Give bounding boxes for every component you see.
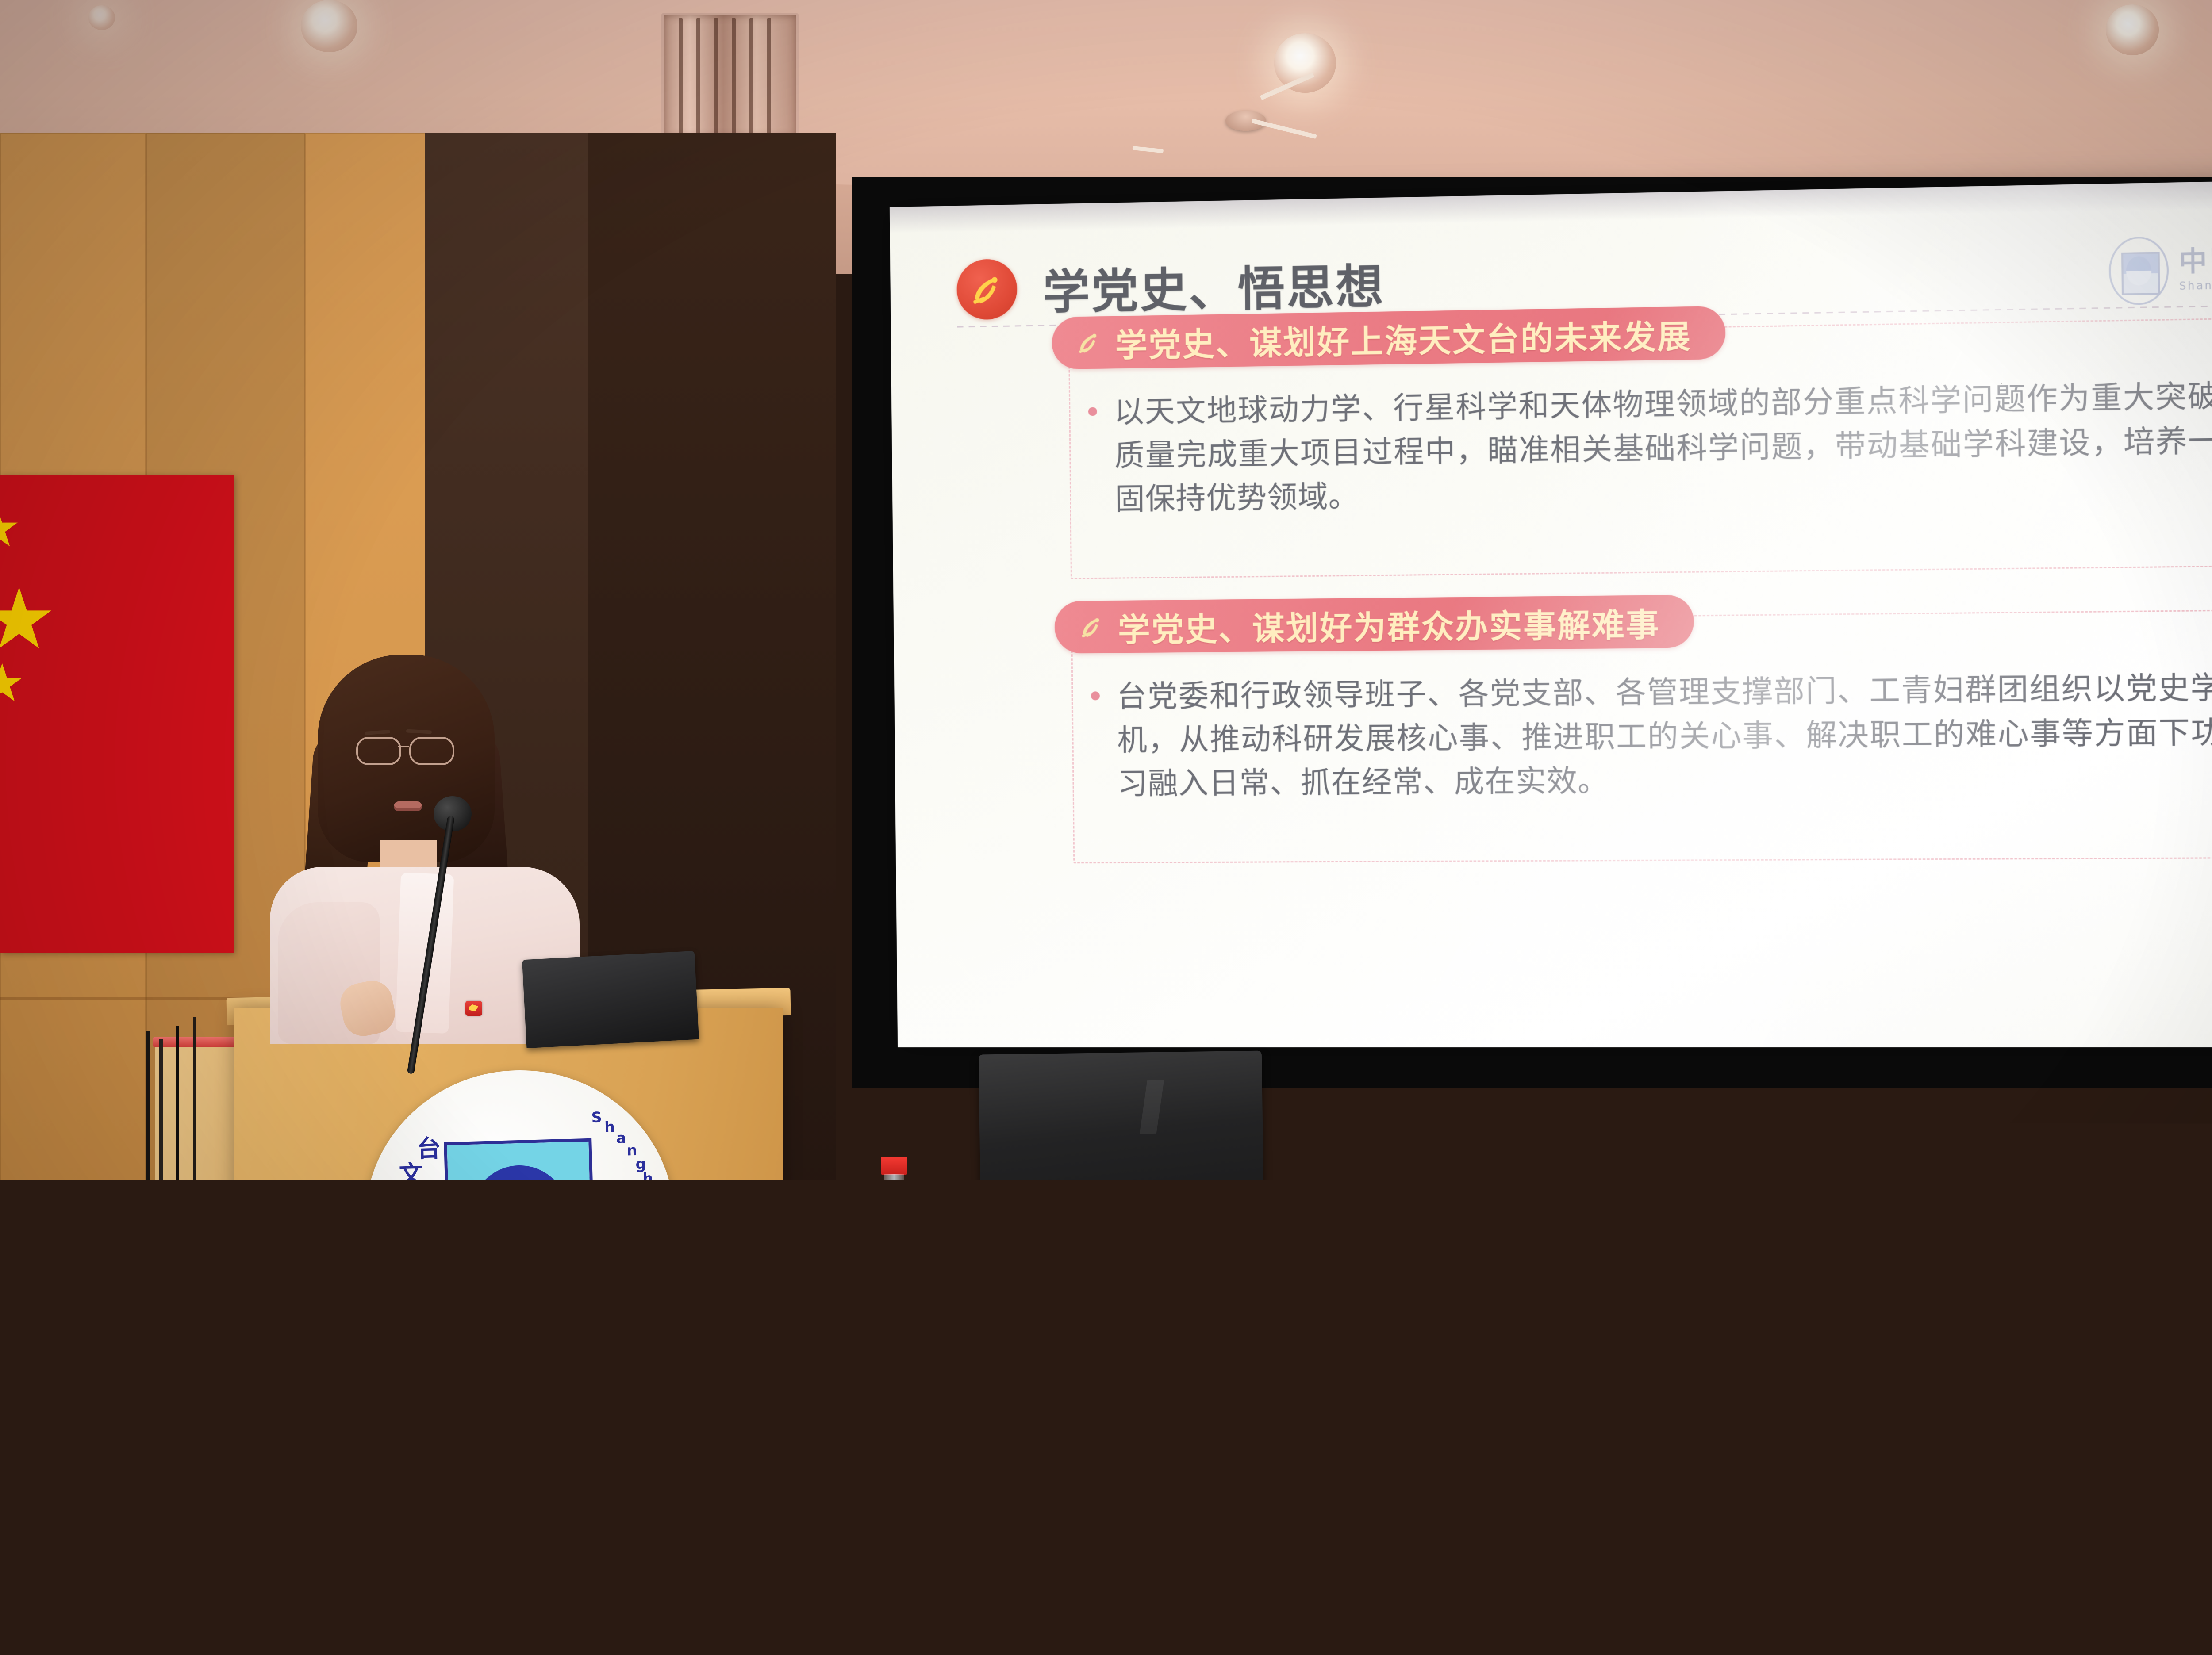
air-vent-icon	[661, 13, 799, 139]
content-block: 学党史、谋划好上海天文台的未来发展 以天文地球动力学、行星科学和天体物理领域的部…	[1068, 315, 2212, 579]
flag-star-icon: ★	[0, 657, 26, 709]
section-banner: 学党史、谋划好上海天文台的未来发展	[1052, 306, 1726, 370]
audience-head	[40, 1380, 208, 1655]
body-paragraph: 以天文地球动力学、行星科学和天体物理领域的部分重点科学问题作为重大突破方向。在高…	[1114, 372, 2212, 521]
audience-head	[743, 1486, 991, 1655]
bottle-logo-icon	[1982, 1572, 1990, 1582]
body-paragraph: 台党委和行政领导班子、各党支部、各管理支撑部门、工青妇群团组织以党史学习教育为契…	[1117, 664, 2212, 805]
ceiling-spotlight-icon	[2106, 4, 2159, 55]
bottle-cap-icon	[881, 1157, 907, 1175]
presentation-hall-scene: ★ ★ ★ 学党史、悟思想	[0, 0, 2212, 1655]
confidence-monitor	[979, 1051, 1264, 1258]
presenter-laptop	[522, 951, 699, 1048]
party-emblem-icon	[956, 259, 1018, 320]
bottle-cap-icon	[1994, 1471, 2024, 1492]
podium-observatory-seal: 中 国 科 学 院 上 海 天 文 台 S h a n g h a i A s …	[361, 1066, 679, 1375]
ceiling-spotlight-icon	[1274, 33, 1336, 93]
section-banner-label: 学党史、谋划好为群众办实事解难事	[1118, 598, 1660, 650]
eyeglasses-icon	[356, 737, 401, 765]
party-emblem-icon	[1077, 612, 1106, 642]
organization-name-cn: 中国科学院上海天文台	[2179, 242, 2212, 276]
flag-star-icon: ★	[0, 577, 57, 661]
chinese-national-flag: ★ ★ ★	[0, 475, 234, 953]
bullet-row: 以天文地球动力学、行星科学和天体物理领域的部分重点科学问题作为重大突破方向。在高…	[1088, 372, 2212, 521]
organization-logo: 中国科学院上海天文台 Shanghai Astronomical, Observ…	[2108, 230, 2212, 306]
eyeglasses-icon	[409, 737, 454, 765]
ceiling-spotlight-icon	[88, 5, 115, 30]
bottle-logo-icon	[1381, 1582, 1389, 1591]
observatory-seal-icon	[444, 1138, 595, 1303]
party-badge-pin-icon	[465, 1001, 482, 1016]
bullet-dot-icon	[1091, 691, 1100, 700]
section-banner-label: 学党史、谋划好上海天文台的未来发展	[1115, 310, 1692, 366]
observatory-seal-icon	[2108, 236, 2169, 306]
bottle-logo-icon	[505, 1601, 513, 1611]
party-emblem-icon	[1074, 328, 1104, 357]
presentation-slide: 学党史、悟思想 中国科学院上海天文台 Shanghai Astronomical…	[890, 176, 2212, 1047]
bullet-row: 台党委和行政领导班子、各党支部、各管理支撑部门、工青妇群团组织以党史学习教育为契…	[1091, 664, 2212, 806]
section-banner: 学党史、谋划好为群众办实事解难事	[1054, 595, 1694, 654]
ceiling-spotlight-icon	[301, 0, 357, 52]
bottle-logo-icon	[870, 1257, 878, 1266]
cable	[193, 1017, 245, 1539]
bullet-dot-icon	[1088, 407, 1097, 416]
bottle-cap-icon	[1393, 1482, 1422, 1503]
page-title: 学党史、悟思想	[1043, 249, 1386, 322]
flag-star-icon: ★	[0, 502, 21, 555]
bottle-cap-icon	[516, 1510, 542, 1531]
content-block: 学党史、谋划好为群众办实事解难事 台党委和行政领导班子、各党支部、各管理支撑部门…	[1071, 608, 2212, 863]
